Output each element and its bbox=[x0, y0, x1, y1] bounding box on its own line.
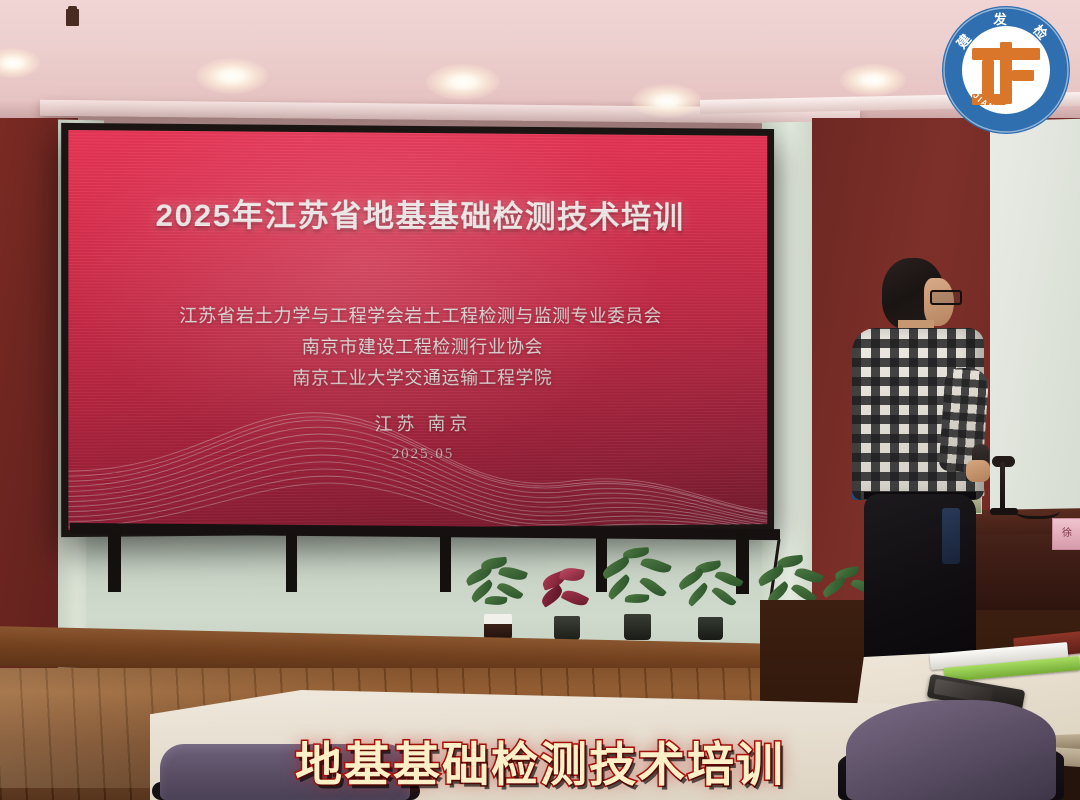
led-screen[interactable]: 2025年江苏省地基基础检测技术培训 江苏省岩土力学与工程学会岩土工程检测与监测… bbox=[61, 123, 774, 537]
downlight-icon bbox=[426, 64, 500, 100]
slide-title: 2025年江苏省地基基础检测技术培训 bbox=[68, 189, 767, 237]
name-card: 徐 bbox=[1052, 518, 1080, 550]
potted-plant bbox=[536, 566, 598, 640]
downlight-icon bbox=[196, 58, 268, 94]
downlight-icon bbox=[840, 64, 906, 96]
photo-scene: 2025年江苏省地基基础检测技术培训 江苏省岩土力学与工程学会岩土工程检测与监测… bbox=[0, 0, 1080, 800]
org-line-1: 江苏省岩土力学与工程学会岩土工程检测与监测专业委员会 bbox=[68, 301, 767, 332]
slide-organizations: 江苏省岩土力学与工程学会岩土工程检测与监测专业委员会 南京市建设工程检测行业协会… bbox=[68, 301, 767, 395]
potted-plant bbox=[600, 548, 676, 640]
presenter-hand bbox=[966, 460, 990, 482]
org-line-2: 南京市建设工程检测行业协会 bbox=[68, 332, 767, 364]
gooseneck-microphone[interactable] bbox=[1000, 462, 1005, 514]
screen-stand-leg bbox=[108, 530, 121, 592]
presenter bbox=[846, 258, 996, 658]
company-logo: 建 发 检 测 JIAN FA JIAN CE bbox=[938, 2, 1074, 138]
name-card-text: 徐 bbox=[1053, 519, 1080, 549]
screen-stand-leg bbox=[440, 536, 451, 592]
potted-plant bbox=[676, 562, 748, 640]
ceiling-hook bbox=[68, 6, 77, 25]
slide-wave-decoration bbox=[68, 382, 767, 530]
potted-plant bbox=[462, 556, 534, 640]
presenter-pocket bbox=[942, 508, 960, 564]
glasses-icon bbox=[930, 290, 962, 305]
slide-surface: 2025年江苏省地基基础检测技术培训 江苏省岩土力学与工程学会岩土工程检测与监测… bbox=[68, 130, 767, 530]
video-caption: 地基基础检测技术培训 bbox=[0, 736, 1080, 794]
screen-stand-leg bbox=[286, 534, 297, 592]
desk-cables bbox=[1014, 498, 1060, 519]
downlight-icon bbox=[632, 84, 702, 118]
